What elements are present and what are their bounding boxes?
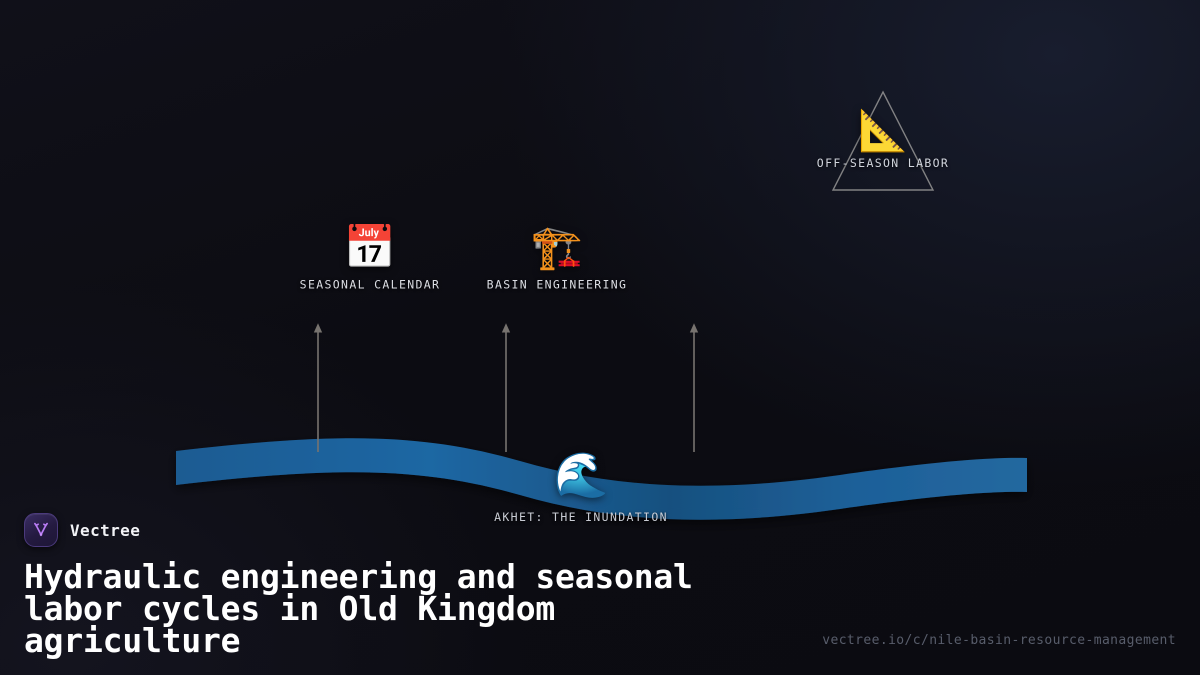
node-seasonal-calendar[interactable]: 📅 SEASONAL CALENDAR xyxy=(300,225,441,292)
share-url: vectree.io/c/nile-basin-resource-managem… xyxy=(822,633,1176,648)
node-basin-engineering[interactable]: 🏗️ BASIN ENGINEERING xyxy=(487,225,628,292)
node-label-off-season-labor: OFF-SEASON LABOR xyxy=(817,156,949,170)
brand[interactable]: Vectree xyxy=(24,513,1176,547)
triangular-ruler-icon: 📐 xyxy=(858,110,908,152)
water-wave-icon: 🌊 xyxy=(554,454,609,498)
vectree-logo-icon xyxy=(24,513,58,547)
page-title: Hydraulic engineering and seasonal labor… xyxy=(24,561,814,657)
node-label-seasonal-calendar: SEASONAL CALENDAR xyxy=(300,278,441,292)
footer: Vectree Hydraulic engineering and season… xyxy=(0,513,1200,675)
node-off-season-labor[interactable]: 📐 OFF-SEASON LABOR xyxy=(783,96,983,170)
calendar-icon: 📅 xyxy=(344,225,396,271)
construction-crane-icon: 🏗️ xyxy=(531,225,583,271)
brand-name: Vectree xyxy=(70,521,140,540)
canvas-stage: 📐 OFF-SEASON LABOR 📅 SEASONAL CALENDAR 🏗… xyxy=(0,0,1200,675)
node-label-basin-engineering: BASIN ENGINEERING xyxy=(487,278,628,292)
